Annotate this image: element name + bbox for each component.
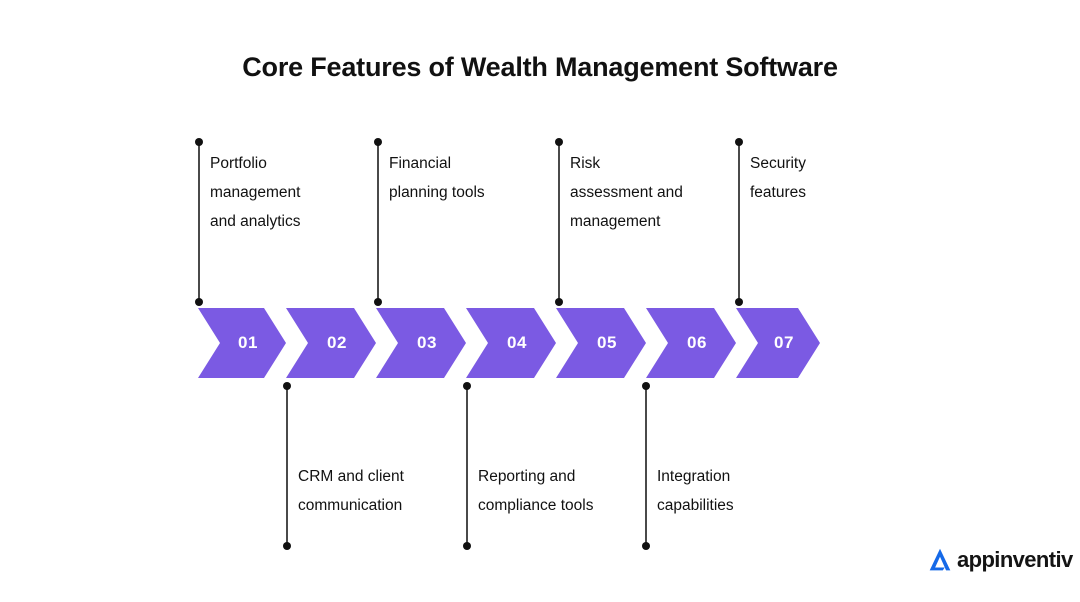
- connector-line: [466, 386, 468, 546]
- label-02: CRM and client communication: [298, 462, 463, 520]
- connector-line: [286, 386, 288, 546]
- connector-dot-top: [283, 382, 291, 390]
- chevron-number: 04: [495, 333, 527, 353]
- chevron-number: 01: [226, 333, 258, 353]
- label-06: Integration capabilities: [657, 462, 817, 520]
- logo-wordmark: appinventiv: [957, 545, 1073, 575]
- chevron-number: 06: [675, 333, 707, 353]
- label-07: Security features: [750, 149, 910, 207]
- connector-dot-bottom: [735, 298, 743, 306]
- connector-dot-top: [195, 138, 203, 146]
- connector-dot-bottom: [642, 542, 650, 550]
- chevron-number: 07: [762, 333, 794, 353]
- label-01: Portfolio management and analytics: [210, 149, 370, 236]
- connector-line: [645, 386, 647, 546]
- chevron-03[interactable]: 03: [376, 308, 466, 378]
- page-title: Core Features of Wealth Management Softw…: [0, 52, 1080, 83]
- connector-line: [198, 142, 200, 302]
- connector-line: [738, 142, 740, 302]
- connector-line: [377, 142, 379, 302]
- chevron-05[interactable]: 05: [556, 308, 646, 378]
- connector-dot-bottom: [195, 298, 203, 306]
- label-05: Risk assessment and management: [570, 149, 735, 236]
- connector-dot-top: [555, 138, 563, 146]
- connector-dot-top: [642, 382, 650, 390]
- chevron-number: 03: [405, 333, 437, 353]
- connector-dot-top: [735, 138, 743, 146]
- chevron-number: 02: [315, 333, 347, 353]
- chevron-strip: 01 02 03 04 05 06 07: [198, 308, 820, 378]
- connector-line: [558, 142, 560, 302]
- connector-dot-bottom: [374, 298, 382, 306]
- infographic-canvas: Core Features of Wealth Management Softw…: [0, 0, 1080, 602]
- chevron-06[interactable]: 06: [646, 308, 736, 378]
- chevron-02[interactable]: 02: [286, 308, 376, 378]
- connector-dot-bottom: [555, 298, 563, 306]
- label-03: Financial planning tools: [389, 149, 554, 207]
- chevron-04[interactable]: 04: [466, 308, 556, 378]
- label-04: Reporting and compliance tools: [478, 462, 643, 520]
- chevron-07[interactable]: 07: [736, 308, 820, 378]
- appinventiv-logo[interactable]: appinventiv: [925, 545, 1073, 575]
- connector-dot-top: [374, 138, 382, 146]
- appinventiv-a-mark-icon: [925, 545, 955, 575]
- connector-dot-bottom: [283, 542, 291, 550]
- chevron-01[interactable]: 01: [198, 308, 286, 378]
- chevron-number: 05: [585, 333, 617, 353]
- connector-dot-bottom: [463, 542, 471, 550]
- connector-dot-top: [463, 382, 471, 390]
